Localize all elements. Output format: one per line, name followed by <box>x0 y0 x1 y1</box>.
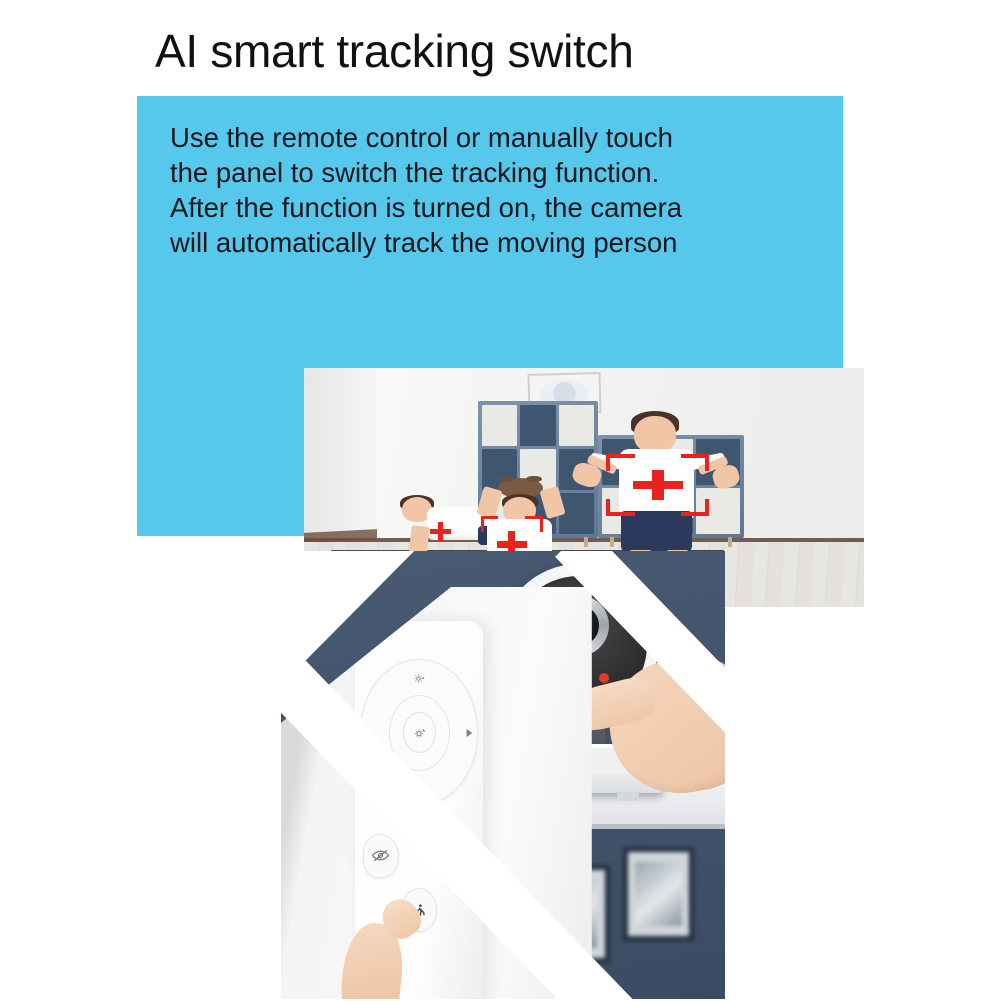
tracking-reticle-large <box>606 454 709 516</box>
room-left-wall <box>304 368 377 545</box>
camera-base-foot-right <box>617 792 639 801</box>
child-right-shorts <box>621 511 692 552</box>
info-line-4: will automatically track the moving pers… <box>170 225 810 260</box>
remote-and-camera-photo <box>281 551 725 999</box>
recording-led <box>599 673 609 683</box>
brightness-up-icon[interactable] <box>413 672 426 685</box>
tracking-reticle-small <box>419 511 462 552</box>
info-line-2: the panel to switch the tracking functio… <box>170 155 810 190</box>
info-line-3: After the function is turned on, the cam… <box>170 190 810 225</box>
info-line-1: Use the remote control or manually touch <box>170 120 810 155</box>
child-right-head <box>634 416 675 453</box>
page-title: AI smart tracking switch <box>155 24 633 78</box>
product-feature-page: AI smart tracking switch Use the remote … <box>0 0 1001 1001</box>
wall-frame-3 <box>623 847 694 941</box>
info-panel: Use the remote control or manually touch… <box>137 96 843 536</box>
rotate-preset-icon[interactable] <box>410 724 428 742</box>
pan-right-icon[interactable] <box>465 728 473 738</box>
privacy-button[interactable] <box>363 834 399 879</box>
info-description: Use the remote control or manually touch… <box>170 120 810 260</box>
